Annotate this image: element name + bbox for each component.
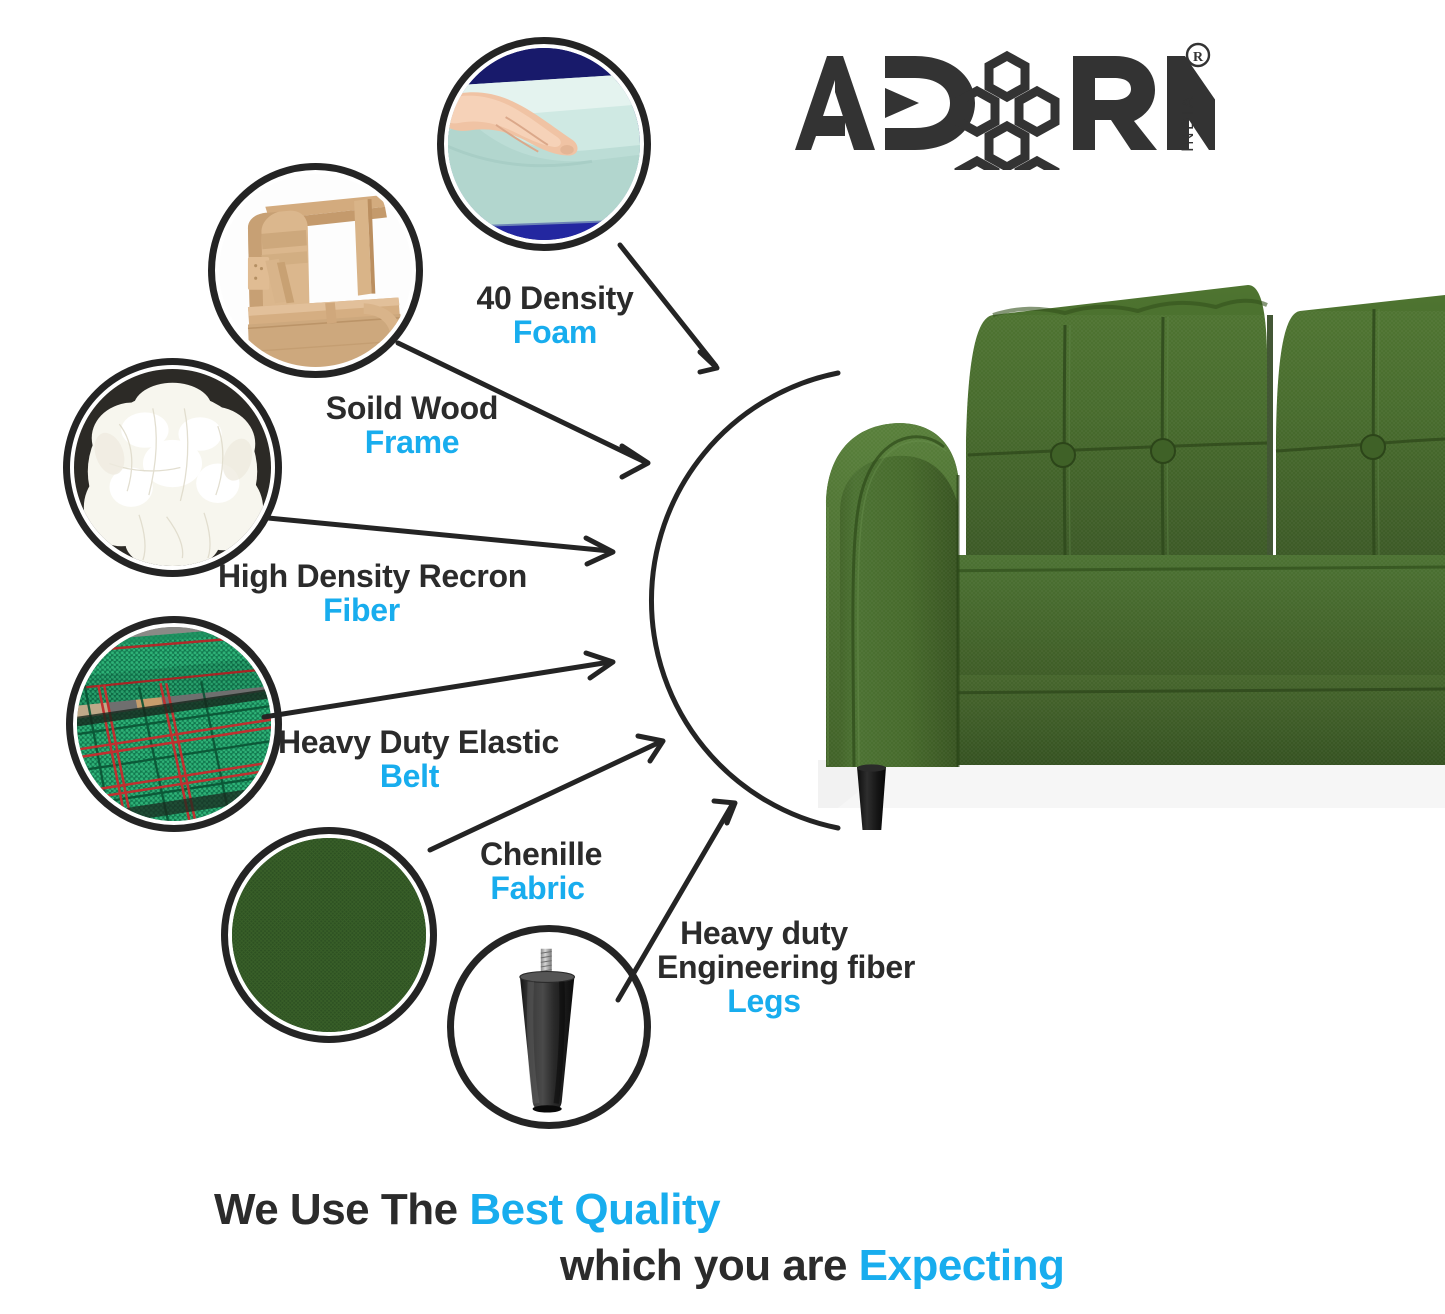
label-foam: 40 Density Foam xyxy=(470,282,640,350)
sofa-back-right xyxy=(1270,295,1445,556)
sofa-seat xyxy=(922,555,1445,675)
brand-logo: INDIA R xyxy=(785,40,1215,170)
recron-fiber-circle xyxy=(63,358,282,577)
sofa-leg xyxy=(857,764,886,830)
tuft-button xyxy=(1151,439,1175,463)
sofa-leg-image xyxy=(458,936,640,1118)
label-legs: Heavy duty Engineering fiber Legs xyxy=(657,917,871,1019)
tagline-line-2: which you are Expecting xyxy=(560,1241,1064,1291)
logo-india-text: INDIA xyxy=(1178,94,1197,152)
label-fabric: Chenille Fabric xyxy=(480,838,595,906)
registered-mark-icon: R xyxy=(1187,44,1209,66)
foam-image xyxy=(448,48,640,240)
svg-text:R: R xyxy=(1193,50,1204,65)
recron-fiber-image xyxy=(74,369,271,566)
tagline-line-1: We Use The Best Quality xyxy=(214,1185,720,1235)
chenille-fabric-swatch xyxy=(232,838,426,1032)
product-sofa-image xyxy=(818,255,1445,830)
label-belt: Heavy Duty Elastic Belt xyxy=(278,726,541,794)
sofa-back-left xyxy=(966,285,1268,560)
tagline-1-accent: Best Quality xyxy=(469,1185,720,1234)
label-fiber: High Density Recron Fiber xyxy=(218,560,505,628)
tuft-button xyxy=(1051,443,1075,467)
tagline-2-accent: Expecting xyxy=(859,1241,1065,1290)
wood-frame-circle xyxy=(208,163,423,378)
elastic-belt-image xyxy=(77,627,271,821)
tagline-1-plain: We Use The xyxy=(214,1185,469,1234)
sofa-armrest xyxy=(826,420,959,768)
elastic-belt-circle xyxy=(66,616,282,832)
chenille-fabric-circle xyxy=(221,827,437,1043)
wood-frame-image xyxy=(219,174,412,367)
center-arc xyxy=(651,373,838,828)
sofa-leg-circle xyxy=(447,925,651,1129)
tagline-2-plain: which you are xyxy=(560,1241,859,1290)
foam-circle xyxy=(437,37,651,251)
tuft-button xyxy=(1361,435,1385,459)
label-frame: Soild Wood Frame xyxy=(322,392,502,460)
sofa-base xyxy=(922,675,1445,765)
